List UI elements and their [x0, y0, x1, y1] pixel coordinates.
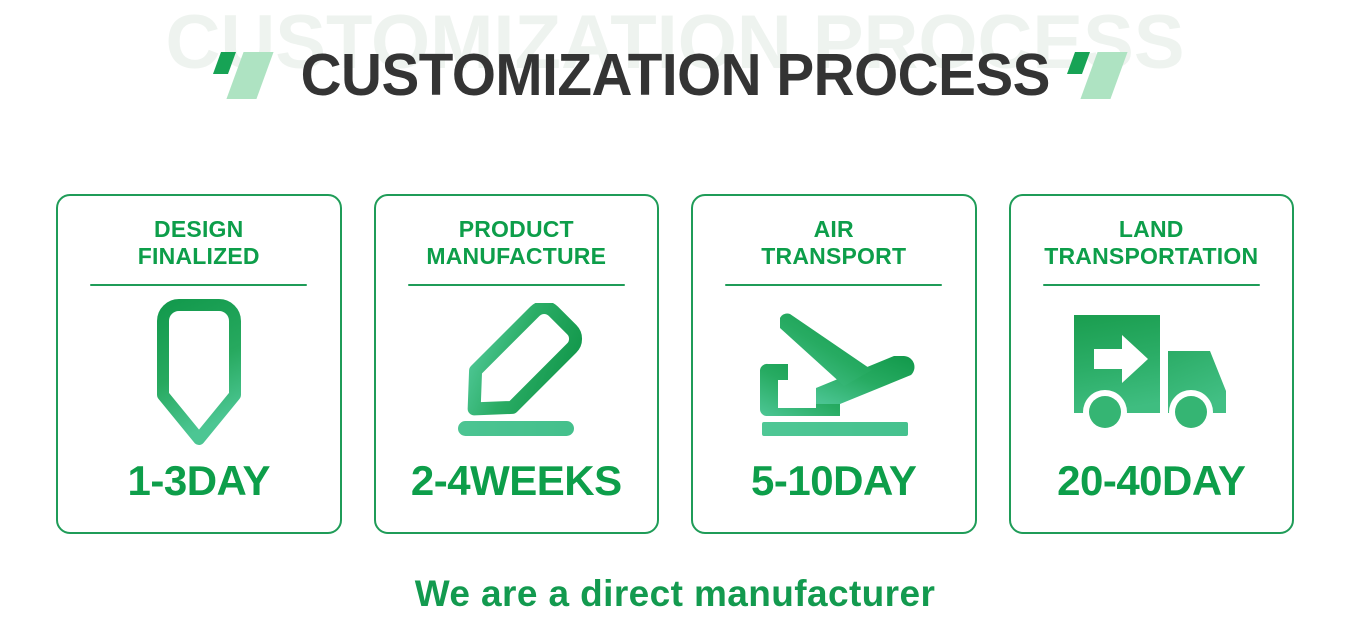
pencil-base-bar-icon [458, 421, 574, 436]
card-title: DESIGN FINALIZED [138, 216, 260, 270]
footer-tagline: We are a direct manufacturer [0, 575, 1350, 612]
process-card-design-finalized[interactable]: DESIGN FINALIZED 1 [56, 194, 342, 534]
card-title: AIR TRANSPORT [761, 216, 906, 270]
slash-dark-right-icon [1067, 52, 1090, 74]
process-card-air-transport[interactable]: AIR TRANSPORT [691, 194, 977, 534]
card-icon-wrap [703, 286, 965, 460]
process-card-land-transportation[interactable]: LAND TRANSPORTATION [1009, 194, 1295, 534]
card-duration: 20-40DAY [1057, 460, 1245, 502]
title-row: CUSTOMIZATION PROCESS [0, 44, 1350, 106]
card-icon-wrap [1021, 286, 1283, 460]
slash-light-right-icon [1081, 52, 1128, 99]
card-icon-wrap [386, 286, 648, 460]
delivery-truck-icon [1068, 309, 1234, 437]
card-duration: 1-3DAY [127, 460, 270, 502]
process-card-product-manufacture[interactable]: PRODUCT MANUFACTURE [374, 194, 660, 534]
slash-decoration-right-icon [1065, 44, 1137, 106]
pencil-down-outline-icon [143, 299, 255, 447]
card-icon-wrap [68, 286, 330, 460]
card-title: LAND TRANSPORTATION [1044, 216, 1258, 270]
card-duration: 5-10DAY [751, 460, 916, 502]
slash-decoration-left-icon [213, 44, 285, 106]
runway-bar-icon [762, 422, 908, 436]
process-steps-list: DESIGN FINALIZED 1 [56, 194, 1294, 534]
card-title: PRODUCT MANUFACTURE [426, 216, 606, 270]
header: CUSTOMIZATION PROCESS CUSTOMIZATION PROC… [0, 0, 1350, 150]
airplane-takeoff-icon [744, 308, 924, 438]
infographic-root: CUSTOMIZATION PROCESS CUSTOMIZATION PROC… [0, 0, 1350, 644]
page-title: CUSTOMIZATION PROCESS [300, 46, 1049, 105]
slash-dark-left-icon [213, 52, 236, 74]
card-duration: 2-4WEEKS [411, 460, 622, 502]
edit-pencil-diagonal-icon [440, 303, 592, 443]
